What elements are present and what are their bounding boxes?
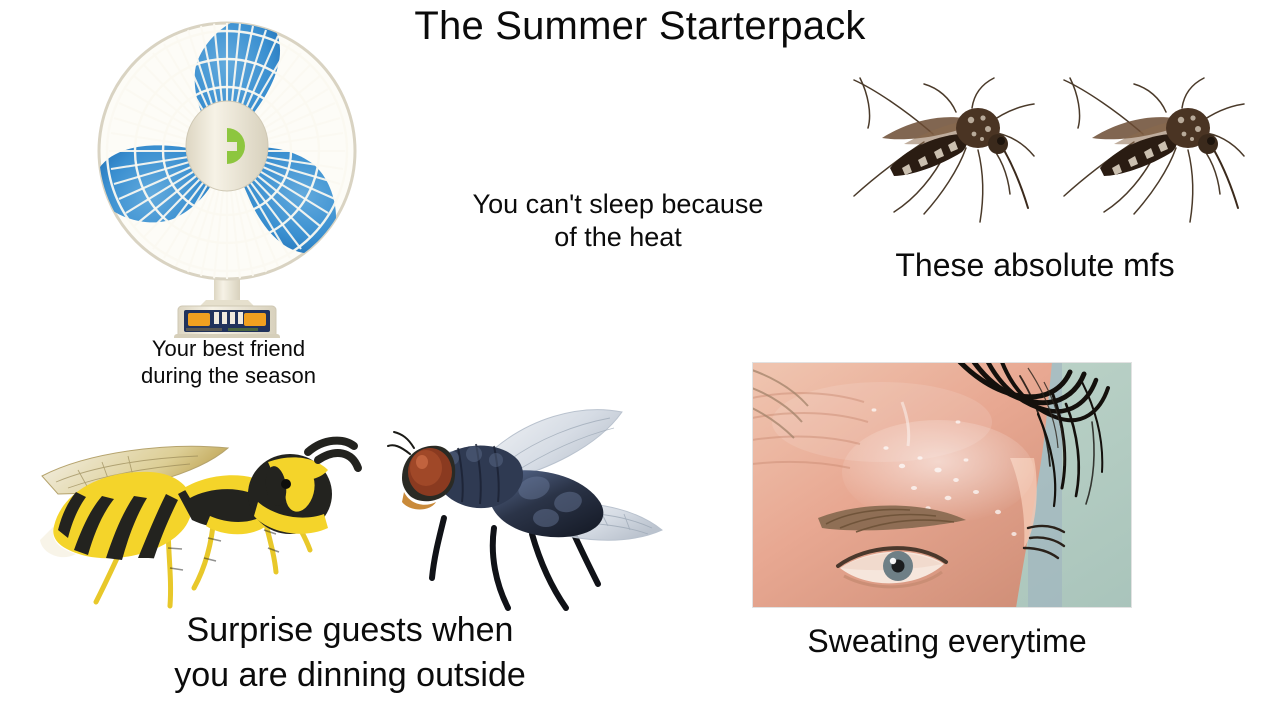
sweaty-face-illustration	[752, 362, 1132, 608]
wasp-illustration	[18, 398, 386, 633]
caption-fan: Your best friend during the season	[96, 336, 361, 390]
wasp-photo	[18, 398, 386, 633]
table-fan-illustration	[86, 18, 368, 338]
mosquito-photo-left	[838, 72, 1038, 227]
housefly-illustration	[386, 402, 678, 630]
mosquito-photo-right	[1048, 72, 1248, 227]
sweaty-face-photo	[752, 362, 1132, 608]
table-fan-photo	[86, 18, 368, 338]
caption-guests: Surprise guests when you are dinning out…	[70, 608, 630, 698]
mosquito-illustration	[838, 72, 1038, 227]
caption-heat: You can't sleep because of the heat	[418, 188, 818, 254]
caption-sweating: Sweating everytime	[742, 622, 1152, 661]
meme-canvas: The Summer Starterpack	[0, 0, 1280, 720]
housefly-photo	[386, 402, 678, 630]
mosquito-illustration	[1048, 72, 1248, 227]
caption-mosquitoes: These absolute mfs	[830, 246, 1240, 285]
